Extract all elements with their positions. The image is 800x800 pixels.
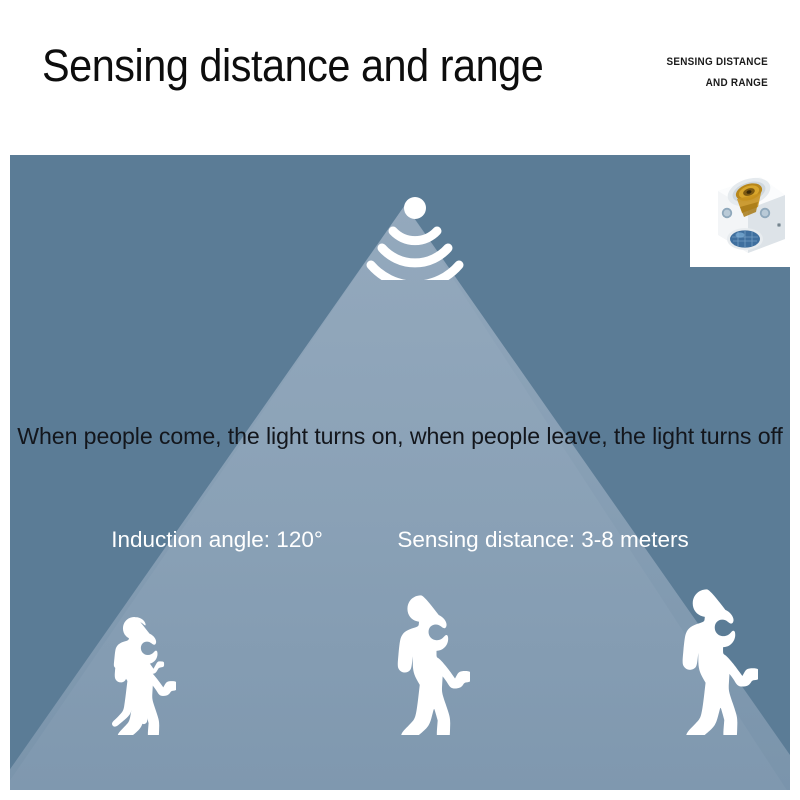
product-inset xyxy=(690,155,800,267)
walking-person-icon xyxy=(98,617,176,735)
illustration-panel: When people come, the light turns on, wh… xyxy=(10,155,790,790)
tagline-text: When people come, the light turns on, wh… xyxy=(16,423,784,450)
header-kicker: SENSING DISTANCE AND RANGE xyxy=(615,52,768,94)
walking-person-icon xyxy=(662,589,758,735)
header-kicker-line-2: AND RANGE xyxy=(615,73,768,94)
signal-waves-icon xyxy=(365,195,465,280)
spec-induction-angle: Induction angle: 120° xyxy=(111,527,323,553)
spec-labels: Induction angle: 120° Sensing distance: … xyxy=(10,527,790,553)
walking-person-icon xyxy=(378,595,470,735)
header-kicker-line-1: SENSING DISTANCE xyxy=(615,52,768,73)
motion-sensor-lamp-holder-image xyxy=(690,155,800,267)
spec-sensing-distance: Sensing distance: 3-8 meters xyxy=(397,527,688,553)
page-header: Sensing distance and range SENSING DISTA… xyxy=(0,0,800,155)
page-title: Sensing distance and range xyxy=(42,38,543,94)
